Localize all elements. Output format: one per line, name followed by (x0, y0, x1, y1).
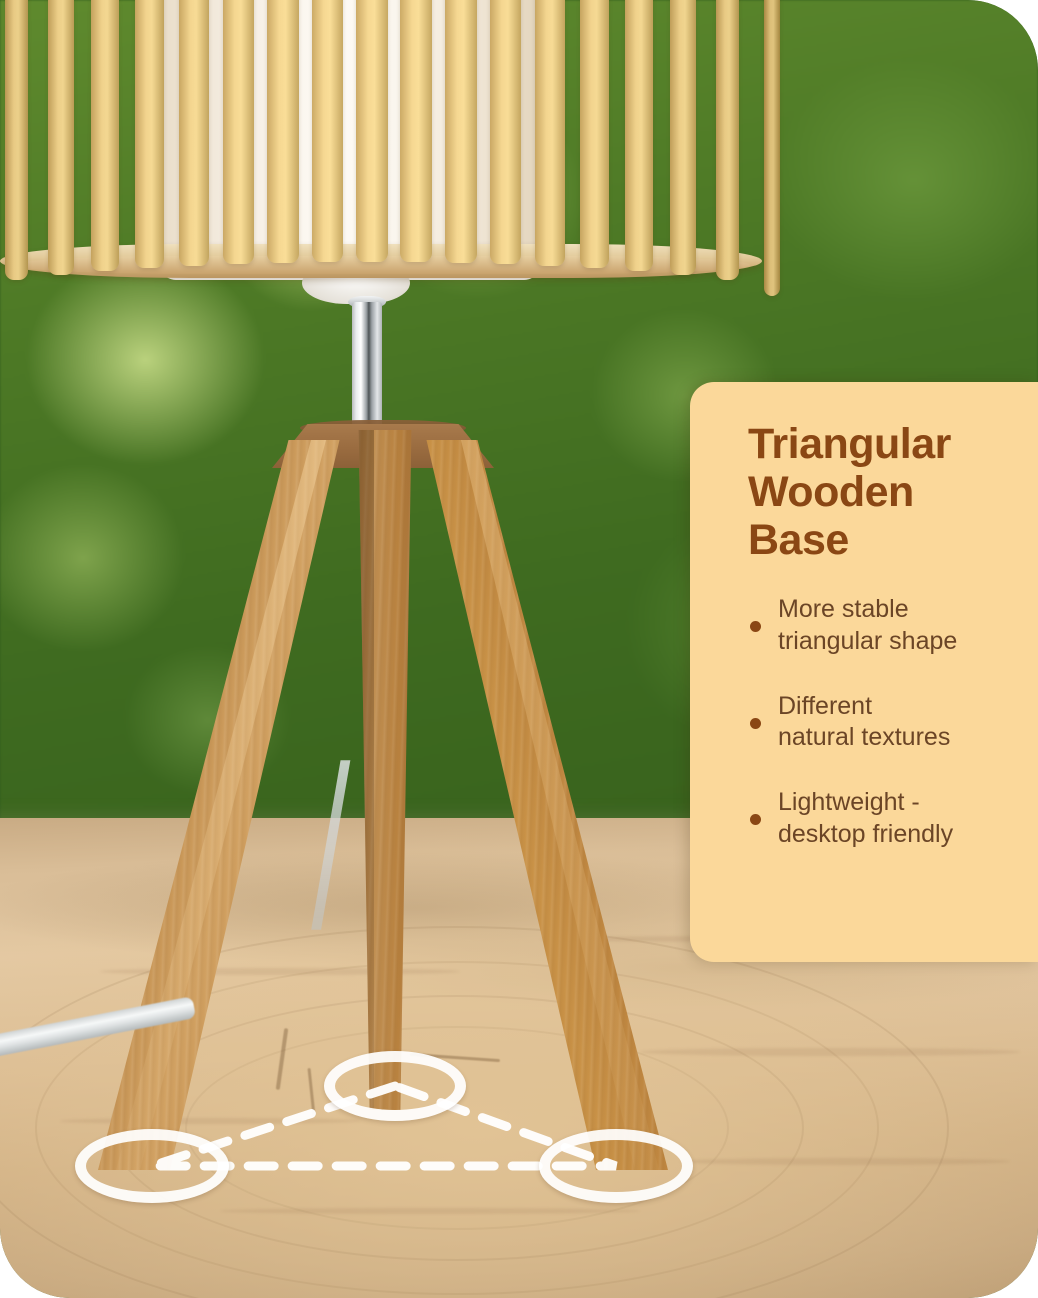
lampshade-slat (48, 0, 74, 275)
lampshade-slat (223, 0, 254, 264)
feature-list: More stable triangular shape Different n… (748, 594, 1012, 850)
bullet-icon (750, 814, 761, 825)
feature-item: Different natural textures (748, 691, 1012, 754)
lampshade-slat (535, 0, 565, 266)
panel-title-line-3: Base (748, 516, 849, 564)
lampshade-slat (580, 0, 609, 268)
feature-line-1: More stable (778, 595, 909, 623)
foot-ring-foot-back (324, 1051, 466, 1121)
product-callout-screenshot: Triangular Wooden Base More stable trian… (0, 0, 1038, 1298)
feature-line-1: Lightweight - (778, 788, 920, 816)
bullet-icon (750, 718, 761, 729)
lampshade-slat (625, 0, 653, 271)
foot-ring-foot-left (75, 1129, 229, 1203)
lampshade-slat (670, 0, 696, 275)
image-canvas: Triangular Wooden Base More stable trian… (0, 0, 1038, 1298)
feature-callout-panel: Triangular Wooden Base More stable trian… (690, 382, 1038, 962)
lampshade-slat (490, 0, 521, 264)
lampshade-slat (135, 0, 164, 268)
panel-title: Triangular Wooden Base (748, 420, 1012, 564)
feature-line-1: Different (778, 692, 872, 720)
lampshade-slat (445, 0, 477, 263)
bullet-icon (750, 621, 761, 632)
lampshade-slat (91, 0, 119, 271)
panel-title-line-1: Triangular (748, 420, 951, 468)
lampshade-slat (179, 0, 209, 266)
feature-line-2: natural textures (778, 723, 950, 751)
foot-ring-foot-right (539, 1129, 693, 1203)
lampshade-slat (312, 0, 344, 262)
lampshade-slat (5, 0, 28, 280)
lampshade-slat (356, 0, 388, 262)
lampshade-slat (764, 0, 780, 296)
panel-title-line-2: Wooden (748, 468, 914, 516)
feature-line-2: desktop friendly (778, 820, 953, 848)
lampshade-slat (716, 0, 739, 280)
lampshade-slat (400, 0, 432, 262)
lampshade-slat (267, 0, 299, 263)
feature-line-2: triangular shape (778, 627, 957, 655)
feature-item: More stable triangular shape (748, 594, 1012, 657)
feature-item: Lightweight - desktop friendly (748, 787, 1012, 850)
